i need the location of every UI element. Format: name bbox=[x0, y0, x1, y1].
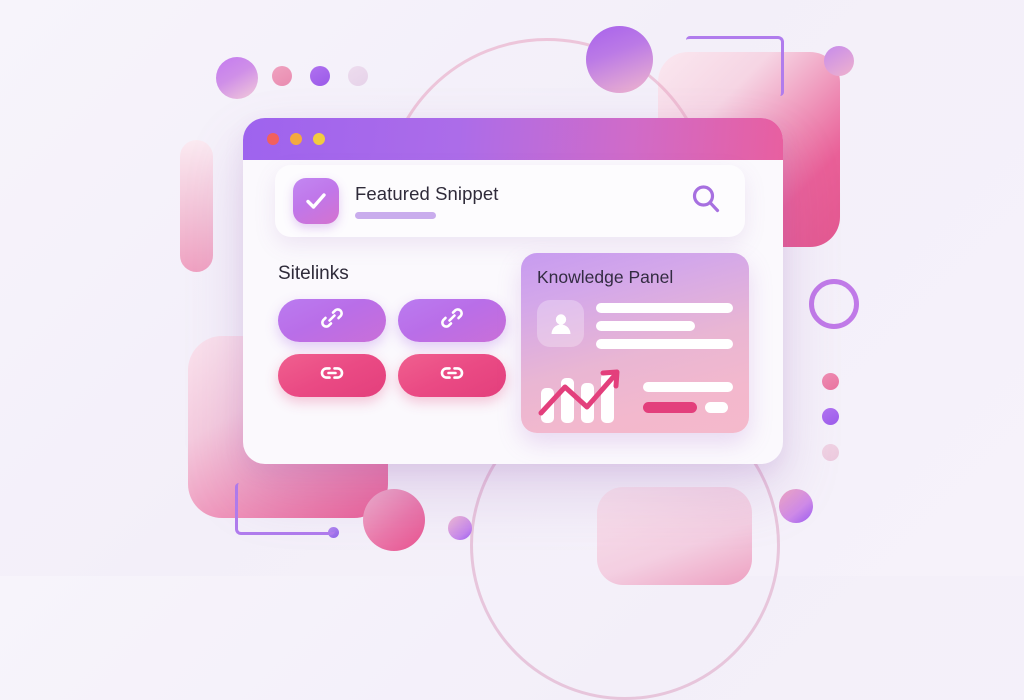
close-dot-icon[interactable] bbox=[267, 133, 279, 145]
text-line bbox=[596, 321, 695, 331]
check-icon bbox=[293, 178, 339, 224]
dot-right-3-shape bbox=[822, 444, 839, 461]
footer-line-row bbox=[643, 402, 733, 413]
featured-snippet-card[interactable]: Featured Snippet bbox=[275, 165, 745, 237]
text-line bbox=[705, 402, 728, 413]
sitelinks-section: Sitelinks bbox=[278, 263, 506, 397]
link-icon-diagonal bbox=[320, 306, 344, 335]
bracket-bottom-left-shape bbox=[235, 483, 335, 535]
sitelinks-grid bbox=[278, 299, 506, 397]
link-icon-horizontal bbox=[319, 360, 345, 391]
snippet-underline-bar bbox=[355, 212, 436, 219]
bracket-top-right-shape bbox=[686, 36, 784, 96]
ring-small-shape bbox=[809, 279, 859, 329]
link-icon-horizontal bbox=[439, 360, 465, 391]
maximize-dot-icon[interactable] bbox=[313, 133, 325, 145]
dot-pink-shape bbox=[272, 66, 292, 86]
circle-top-purple-shape bbox=[586, 26, 653, 93]
dot-right-2-shape bbox=[822, 408, 839, 425]
snippet-text-block: Featured Snippet bbox=[355, 183, 673, 218]
text-line bbox=[596, 303, 733, 313]
minimize-dot-icon[interactable] bbox=[290, 133, 302, 145]
knowledge-panel-card[interactable]: Knowledge Panel bbox=[521, 253, 749, 433]
sitelink-button-3[interactable] bbox=[278, 354, 386, 397]
circle-bottom-pink-shape bbox=[363, 489, 425, 551]
vertical-bar-left-shape bbox=[180, 140, 213, 272]
knowledge-panel-profile-row bbox=[537, 300, 733, 349]
dot-pale-shape bbox=[348, 66, 368, 86]
sitelink-button-2[interactable] bbox=[398, 299, 506, 342]
snippet-title: Featured Snippet bbox=[355, 183, 673, 204]
sitelink-button-1[interactable] bbox=[278, 299, 386, 342]
link-icon-diagonal bbox=[440, 306, 464, 335]
search-icon[interactable] bbox=[689, 182, 723, 221]
bar-chart-trending-up-icon bbox=[537, 365, 629, 423]
dot-purple-shape bbox=[310, 66, 330, 86]
person-icon bbox=[537, 300, 584, 347]
circle-top-left-shape bbox=[216, 57, 258, 99]
sitelink-button-4[interactable] bbox=[398, 354, 506, 397]
circle-right-gradient-shape bbox=[779, 489, 813, 523]
circle-top-right-shape bbox=[824, 46, 854, 76]
text-line bbox=[643, 382, 733, 392]
knowledge-panel-stats-row bbox=[537, 365, 733, 423]
sitelinks-title: Sitelinks bbox=[278, 263, 506, 285]
knowledge-panel-footer-lines bbox=[643, 382, 733, 423]
knowledge-panel-text-lines bbox=[596, 300, 733, 349]
highlight-line bbox=[643, 402, 697, 413]
dot-right-1-shape bbox=[822, 373, 839, 390]
circle-bottom-small-shape bbox=[448, 516, 472, 540]
window-titlebar bbox=[243, 118, 783, 160]
knowledge-panel-title: Knowledge Panel bbox=[537, 267, 733, 288]
text-line bbox=[596, 339, 733, 349]
